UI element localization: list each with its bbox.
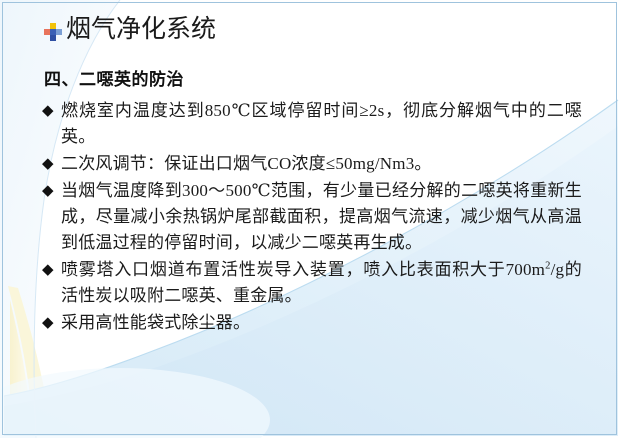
bullet-text: 采用高性能袋式除尘器。 [61, 310, 582, 336]
bullet-text: 当烟气温度降到300～500℃范围，有少量已经分解的二噁英将重新生成，尽量减小余… [61, 178, 582, 256]
presentation-slide: 烟气净化系统 四、二噁英的防治 ◆ 燃烧室内温度达到850℃区域停留时间≥2s，… [0, 0, 620, 438]
list-item: ◆ 燃烧室内温度达到850℃区域停留时间≥2s，彻底分解烟气中的二噁英。 [42, 98, 582, 150]
bullet-marker: ◆ [42, 310, 61, 336]
bullet-text-main: 当烟气温度降到300～500℃范围，有少量已经分解的二噁英将重新生成，尽量减小余… [61, 181, 582, 252]
list-item: ◆ 二次风调节：保证出口烟气CO浓度≤50mg/Nm3。 [42, 151, 582, 177]
bullet-text: 喷雾塔入口烟道布置活性炭导入装置，喷入比表面积大于700m2/g的活性炭以吸附二… [61, 257, 582, 309]
list-item: ◆ 喷雾塔入口烟道布置活性炭导入装置，喷入比表面积大于700m2/g的活性炭以吸… [42, 257, 582, 309]
bullet-text-main: 燃烧室内温度达到850℃区域停留时间≥2s，彻底分解烟气中的二噁英。 [61, 101, 582, 146]
bullet-text: 燃烧室内温度达到850℃区域停留时间≥2s，彻底分解烟气中的二噁英。 [61, 98, 582, 150]
section-heading: 四、二噁英的防治 [44, 68, 582, 92]
list-item: ◆ 采用高性能袋式除尘器。 [42, 310, 582, 336]
slide-title-row: 烟气净化系统 [44, 16, 216, 44]
slide-body: 四、二噁英的防治 ◆ 燃烧室内温度达到850℃区域停留时间≥2s，彻底分解烟气中… [42, 68, 582, 337]
bullet-text-main: 二次风调节：保证出口烟气CO浓度≤50mg/Nm3。 [61, 154, 432, 173]
bullet-marker: ◆ [42, 151, 61, 177]
four-color-plus-icon [44, 23, 62, 41]
bullet-text-main: 喷雾塔入口烟道布置活性炭导入装置，喷入比表面积大于700m [61, 260, 545, 279]
slide-title: 烟气净化系统 [66, 16, 216, 44]
bullet-text-main: 采用高性能袋式除尘器。 [61, 313, 250, 332]
bullet-marker: ◆ [42, 98, 61, 124]
bullet-text: 二次风调节：保证出口烟气CO浓度≤50mg/Nm3。 [61, 151, 582, 177]
list-item: ◆ 当烟气温度降到300～500℃范围，有少量已经分解的二噁英将重新生成，尽量减… [42, 178, 582, 256]
bullet-marker: ◆ [42, 257, 61, 283]
bullet-marker: ◆ [42, 178, 61, 204]
